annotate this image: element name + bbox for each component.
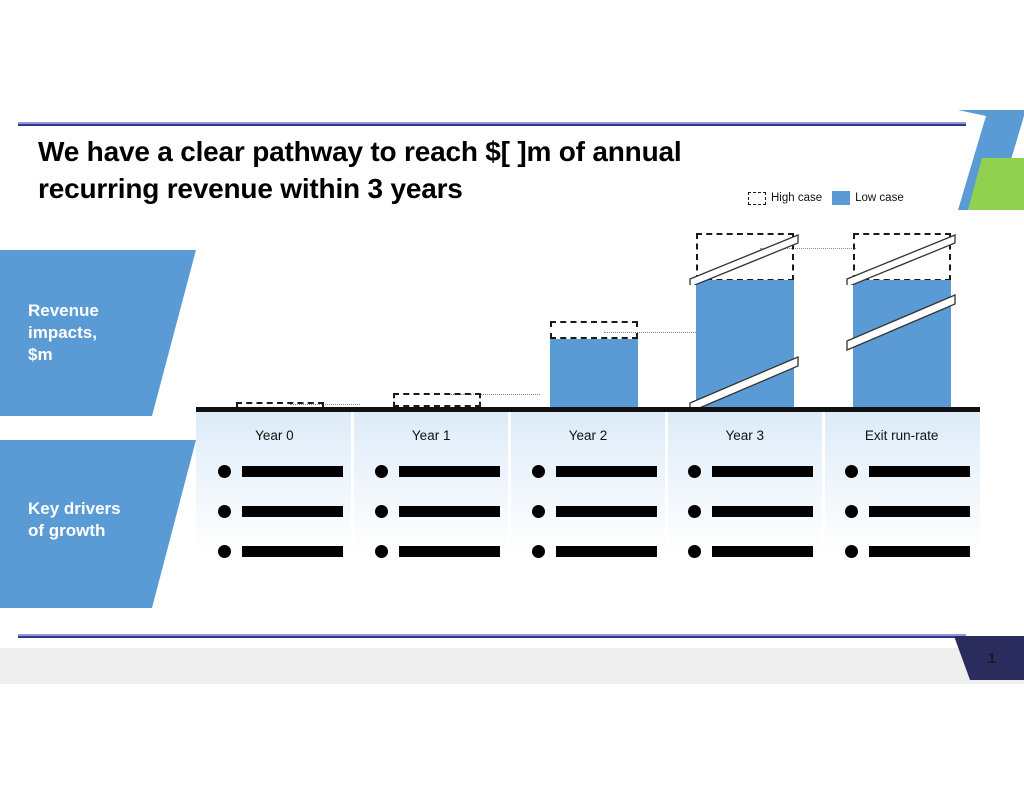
chart-legend: High case Low case — [748, 188, 904, 208]
list-item — [375, 500, 510, 522]
bar-high-exit-run-rate — [853, 233, 951, 281]
redacted-bullet-bar — [399, 466, 500, 477]
redacted-bullet-bar — [869, 546, 970, 557]
banner-key-drivers: Key drivers of growth — [0, 440, 196, 608]
redacted-bullet-bar — [399, 506, 500, 517]
redacted-bullet-bar — [556, 466, 657, 477]
bar-high-year-3 — [696, 233, 794, 281]
bullet-dot-icon — [845, 465, 858, 478]
bar-group-year-3 — [666, 232, 823, 407]
legend-item-low-case: Low case — [832, 191, 904, 205]
column-header-year-2: Year 2 — [510, 428, 667, 443]
bullet-dot-icon — [218, 545, 231, 558]
list-item — [845, 460, 980, 482]
column-header-exit-run-rate: Exit run-rate — [823, 428, 980, 443]
bullet-column-year-1 — [353, 460, 510, 580]
solid-blue-swatch-icon — [832, 191, 850, 205]
bar-group-year-1 — [353, 232, 510, 407]
header-divider-dark — [18, 124, 966, 126]
column-header-year-3: Year 3 — [666, 428, 823, 443]
footer-divider — [18, 634, 966, 638]
redacted-bullet-bar — [712, 466, 813, 477]
bullet-dot-icon — [688, 505, 701, 518]
list-item — [688, 460, 823, 482]
bullet-dot-icon — [532, 465, 545, 478]
bar-group-year-2 — [510, 232, 667, 407]
bullet-dot-icon — [375, 465, 388, 478]
redacted-bullet-bar — [712, 506, 813, 517]
bar-low-year-2 — [550, 339, 638, 407]
list-item — [218, 500, 353, 522]
list-item — [218, 540, 353, 562]
legend-item-high-case: High case — [748, 192, 822, 205]
bullet-dot-icon — [375, 505, 388, 518]
redacted-bullet-bar — [869, 506, 970, 517]
column-header-year-0: Year 0 — [196, 428, 353, 443]
list-item — [845, 540, 980, 562]
bullet-dot-icon — [688, 545, 701, 558]
bar-low-year-3 — [696, 280, 794, 407]
legend-label-low-case: Low case — [855, 192, 904, 204]
page-title: We have a clear pathway to reach $[ ]m o… — [38, 133, 808, 207]
list-item — [375, 540, 510, 562]
dashed-outline-swatch-icon — [748, 192, 766, 205]
bullet-dot-icon — [845, 505, 858, 518]
redacted-bullet-bar — [242, 466, 343, 477]
header-divider — [18, 122, 966, 126]
list-item — [375, 460, 510, 482]
redacted-bullet-bar — [242, 506, 343, 517]
bar-group-exit-run-rate — [823, 232, 980, 407]
bullet-column-year-0 — [196, 460, 353, 580]
bullet-column-year-3 — [666, 460, 823, 580]
key-drivers-panel: Year 0 Year 1 Year 2 Year 3 Exit run-rat… — [196, 412, 980, 608]
bar-high-year-2 — [550, 321, 638, 339]
page-number-shape — [938, 636, 1024, 680]
footer-divider-dark — [18, 636, 966, 638]
list-item — [532, 460, 667, 482]
banner-revenue-impacts: Revenue impacts, $m — [0, 250, 196, 416]
revenue-waterfall-chart — [196, 232, 980, 412]
corner-decoration — [930, 110, 1024, 210]
list-item — [845, 500, 980, 522]
list-item — [218, 460, 353, 482]
redacted-bullet-bar — [242, 546, 343, 557]
banner-label-key-drivers: Key drivers of growth — [28, 498, 121, 542]
bullet-dot-icon — [532, 545, 545, 558]
list-item — [688, 540, 823, 562]
redacted-bullet-bar — [399, 546, 500, 557]
bullet-dot-icon — [375, 545, 388, 558]
bullet-column-year-2 — [510, 460, 667, 580]
column-header-year-1: Year 1 — [353, 428, 510, 443]
bullet-column-exit-run-rate — [823, 460, 980, 580]
redacted-bullet-bar — [556, 546, 657, 557]
list-item — [688, 500, 823, 522]
bullet-dot-icon — [532, 505, 545, 518]
list-item — [532, 500, 667, 522]
bullet-dot-icon — [845, 545, 858, 558]
footer-band — [0, 648, 1024, 684]
bar-group-year-0 — [196, 232, 353, 407]
bar-high-year-1 — [393, 393, 481, 407]
redacted-bullet-bar — [869, 466, 970, 477]
legend-label-high-case: High case — [771, 192, 822, 204]
page-number-label: 1 — [988, 650, 996, 667]
bullet-dot-icon — [218, 505, 231, 518]
slide-canvas: We have a clear pathway to reach $[ ]m o… — [0, 0, 1024, 791]
bullet-dot-icon — [218, 465, 231, 478]
redacted-bullet-bar — [712, 546, 813, 557]
page-number-tab: 1 — [938, 636, 1024, 680]
list-item — [532, 540, 667, 562]
banner-label-revenue-impacts: Revenue impacts, $m — [28, 300, 99, 365]
redacted-bullet-bar — [556, 506, 657, 517]
bar-low-exit-run-rate — [853, 280, 951, 407]
bullet-dot-icon — [688, 465, 701, 478]
